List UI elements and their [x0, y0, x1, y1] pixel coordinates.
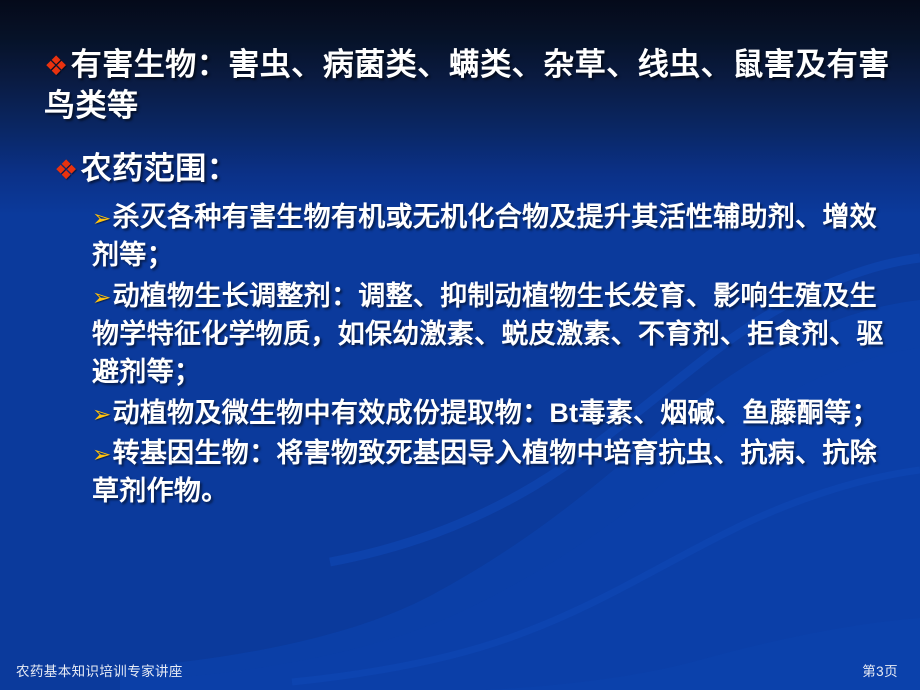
gold-arrow-bullet-icon: ➢ [92, 205, 112, 231]
gold-arrow-bullet-icon: ➢ [92, 441, 112, 467]
list-item-text: 转基因生物：将害物致死基因导入植物中培育抗虫、抗病、抗除草剂作物。 [92, 438, 877, 506]
list-item-text: 动植物生长调整剂：调整、抑制动植物生长发育、影响生殖及生物学特征化学物质，如保幼… [92, 281, 884, 388]
bullet-harmful-organisms-text: 有害生物：害虫、病菌类、螨类、杂草、线虫、鼠害及有害鸟类等 [44, 47, 890, 123]
list-item: ➢动植物及微生物中有效成份提取物：Bt毒素、烟碱、鱼藤酮等； [92, 394, 904, 432]
footer-page-number: 第3页 [862, 660, 898, 680]
list-item: ➢转基因生物：将害物致死基因导入植物中培育抗虫、抗病、抗除草剂作物。 [92, 434, 904, 511]
presentation-slide: ❖有害生物：害虫、病菌类、螨类、杂草、线虫、鼠害及有害鸟类等 ❖农药范围： ➢杀… [0, 0, 920, 690]
bullet-pesticide-scope-text: 农药范围： [81, 151, 239, 186]
list-item-text: 动植物及微生物中有效成份提取物：Bt毒素、烟碱、鱼藤酮等； [113, 398, 879, 428]
slide-content: ❖有害生物：害虫、病菌类、螨类、杂草、线虫、鼠害及有害鸟类等 ❖农药范围： ➢杀… [0, 0, 920, 690]
list-item-text: 杀灭各种有害生物有机或无机化合物及提升其活性辅助剂、增效剂等； [92, 202, 877, 270]
red-diamond-bullet-icon: ❖ [54, 155, 79, 185]
bullet-pesticide-scope: ❖农药范围： [54, 148, 884, 189]
gold-arrow-bullet-icon: ➢ [92, 401, 112, 427]
red-diamond-bullet-icon: ❖ [44, 51, 69, 81]
pesticide-scope-list: ➢杀灭各种有害生物有机或无机化合物及提升其活性辅助剂、增效剂等； ➢动植物生长调… [92, 198, 904, 513]
list-item: ➢动植物生长调整剂：调整、抑制动植物生长发育、影响生殖及生物学特征化学物质，如保… [92, 277, 904, 392]
footer-presentation-title: 农药基本知识培训专家讲座 [16, 660, 183, 680]
gold-arrow-bullet-icon: ➢ [92, 284, 112, 310]
bullet-harmful-organisms: ❖有害生物：害虫、病菌类、螨类、杂草、线虫、鼠害及有害鸟类等 [44, 44, 890, 126]
list-item: ➢杀灭各种有害生物有机或无机化合物及提升其活性辅助剂、增效剂等； [92, 198, 904, 275]
